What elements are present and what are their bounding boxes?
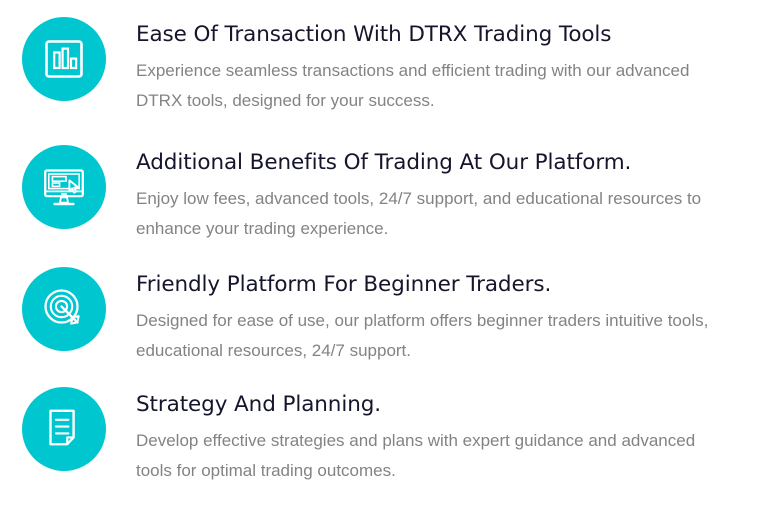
feature-text: Ease Of Transaction With DTRX Trading To… <box>106 11 731 116</box>
feature-title: Additional Benefits Of Trading At Our Pl… <box>136 148 731 177</box>
feature-item: Ease Of Transaction With DTRX Trading To… <box>0 11 761 139</box>
feature-icon-badge <box>22 145 106 229</box>
feature-description: Enjoy low fees, advanced tools, 24/7 sup… <box>136 184 731 244</box>
feature-text: Additional Benefits Of Trading At Our Pl… <box>106 139 731 244</box>
desktop-monitor-cursor-icon <box>41 164 87 210</box>
feature-title: Ease Of Transaction With DTRX Trading To… <box>136 20 731 49</box>
feature-title: Strategy And Planning. <box>136 390 731 419</box>
feature-icon-badge <box>22 387 106 471</box>
feature-description: Experience seamless transactions and eff… <box>136 56 731 116</box>
feature-item: Friendly Platform For Beginner Traders. … <box>0 261 761 381</box>
feature-list: Ease Of Transaction With DTRX Trading To… <box>0 0 761 526</box>
feature-icon-badge <box>22 17 106 101</box>
feature-item: Strategy And Planning. Develop effective… <box>0 381 761 504</box>
feature-title: Friendly Platform For Beginner Traders. <box>136 270 731 299</box>
bar-chart-icon <box>41 36 87 82</box>
feature-icon-badge <box>22 267 106 351</box>
feature-text: Strategy And Planning. Develop effective… <box>106 381 731 486</box>
target-arrow-icon <box>41 286 87 332</box>
feature-description: Designed for ease of use, our platform o… <box>136 306 731 366</box>
document-page-icon <box>41 406 87 452</box>
feature-description: Develop effective strategies and plans w… <box>136 426 731 486</box>
feature-text: Friendly Platform For Beginner Traders. … <box>106 261 731 366</box>
feature-item: Additional Benefits Of Trading At Our Pl… <box>0 139 761 261</box>
